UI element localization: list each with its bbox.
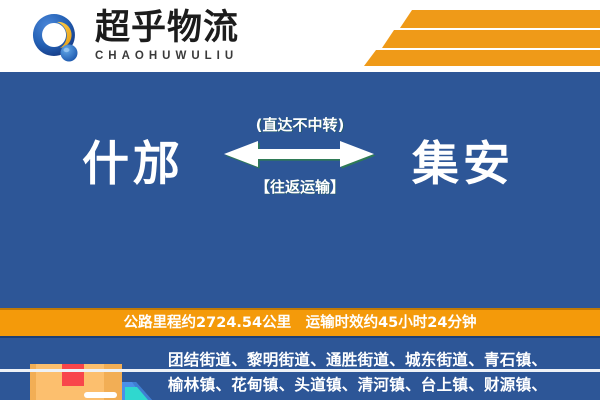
circle-crescent-logo-icon bbox=[27, 10, 83, 66]
brand-name-en: CHAOHUWULIU bbox=[95, 49, 265, 63]
band-bottom-rule bbox=[0, 336, 600, 338]
header: 超乎物流 CHAOHUWULIU bbox=[0, 0, 600, 72]
route-note-roundtrip: 【往返运输】 bbox=[222, 178, 378, 196]
route-note-direct: (直达不中转) bbox=[222, 116, 378, 134]
brand-name-cn: 超乎物流 bbox=[95, 8, 265, 48]
destination-city: 集安 bbox=[368, 134, 558, 196]
origin-city: 什邡 bbox=[38, 134, 228, 196]
delivery-truck-icon bbox=[22, 348, 162, 400]
route-row: 什邡 (直达不中转) 【往返运输】 集安 bbox=[0, 110, 600, 208]
brand-block: 超乎物流 CHAOHUWULIU bbox=[95, 8, 265, 68]
coverage-area-list: 团结街道、黎明街道、通胜街道、城东街道、青石镇、 榆林镇、花甸镇、头道镇、清河镇… bbox=[168, 348, 582, 400]
bidirectional-arrow-icon bbox=[224, 137, 376, 173]
speed-stripes-icon bbox=[350, 8, 600, 66]
main-blue-panel: 什邡 (直达不中转) 【往返运输】 集安 公路里程约2724.54公里 运输时 bbox=[0, 72, 600, 400]
bottom-divider bbox=[0, 369, 600, 372]
stats-text: 公路里程约2724.54公里 运输时效约45小时24分钟 bbox=[0, 310, 600, 336]
logistics-route-card: 超乎物流 CHAOHUWULIU 什邡 (直达不中转) bbox=[0, 0, 600, 400]
coverage-line: 榆林镇、花甸镇、头道镇、清河镇、台上镇、财源镇、 bbox=[168, 373, 582, 398]
route-middle: (直达不中转) 【往返运输】 bbox=[222, 110, 378, 208]
stats-band: 公路里程约2724.54公里 运输时效约45小时24分钟 bbox=[0, 310, 600, 336]
